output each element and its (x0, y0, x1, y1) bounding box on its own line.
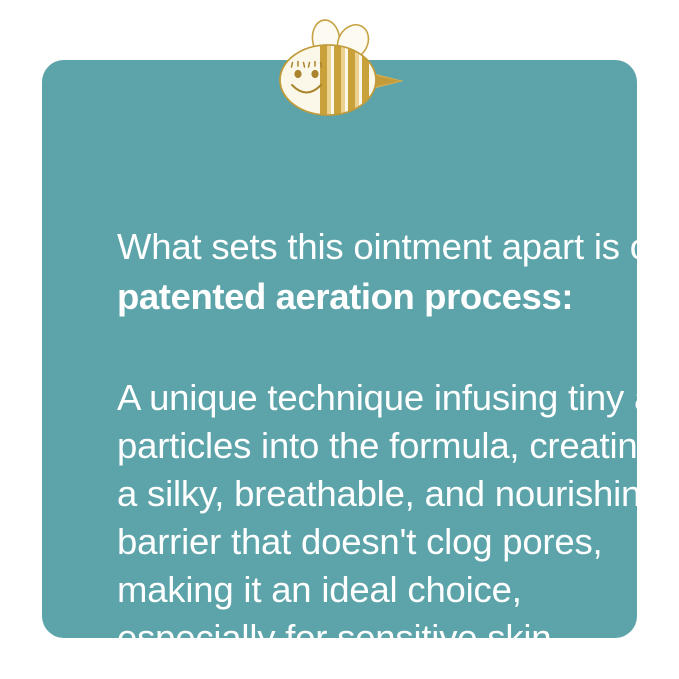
body-line-2: particles into the formula, creating (117, 422, 663, 470)
info-card: What sets this ointment apart is our pat… (42, 60, 637, 638)
bee-eye-left (294, 70, 301, 78)
headline-line-1: What sets this ointment apart is our (117, 222, 663, 272)
bee-eye-right (311, 70, 318, 78)
body-line-5: making it an ideal choice, (117, 566, 663, 614)
poster-canvas: What sets this ointment apart is our pat… (0, 0, 679, 679)
body-line-1: A unique technique infusing tiny air (117, 374, 663, 422)
bee-icon (272, 20, 406, 118)
bee-logo (272, 20, 406, 118)
body-line-6: especially for sensitive skin. (117, 614, 663, 662)
body-paragraph: A unique technique infusing tiny air par… (117, 374, 663, 662)
body-line-3: a silky, breathable, and nourishing (117, 470, 663, 518)
headline-line-2: patented aeration process: (117, 272, 663, 322)
text-content-block: What sets this ointment apart is our pat… (117, 222, 663, 662)
body-line-4: barrier that doesn't clog pores, (117, 518, 663, 566)
headline: What sets this ointment apart is our pat… (117, 222, 663, 322)
